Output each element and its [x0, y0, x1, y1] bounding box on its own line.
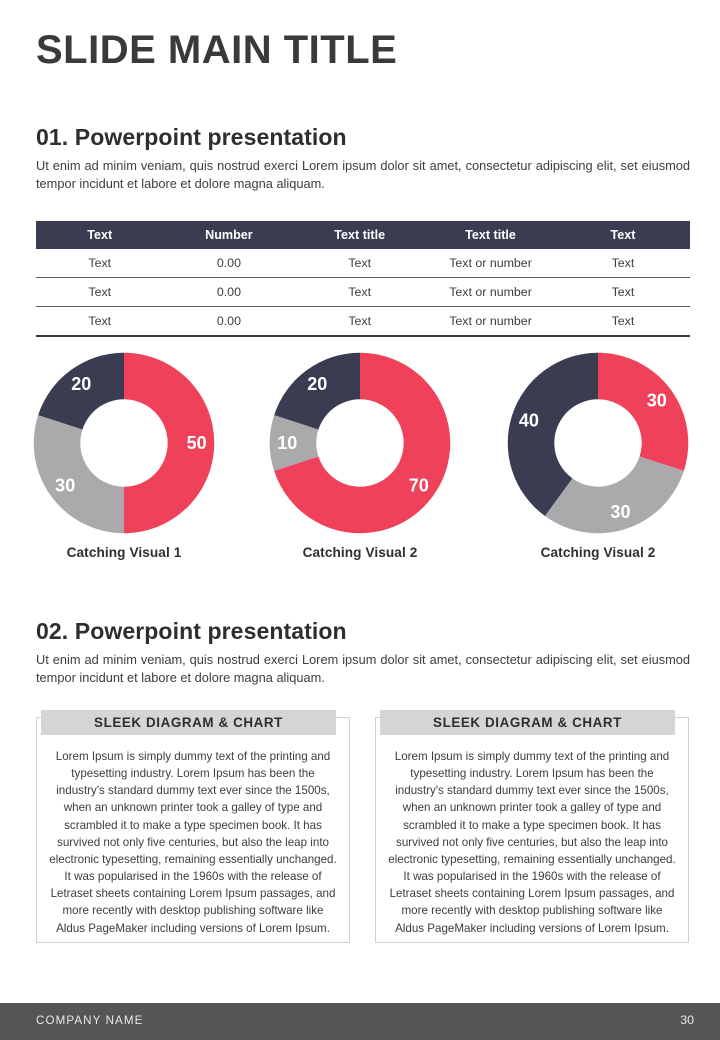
- donut-segment: [34, 415, 124, 533]
- table-header-cell: Text: [36, 221, 164, 249]
- table-cell: Text: [294, 278, 425, 307]
- donut-segment-label: 20: [71, 374, 91, 394]
- donut-chart-svg: 701020: [265, 348, 455, 538]
- section-heading-02: 02. Powerpoint presentation: [36, 618, 347, 645]
- table-cell: Text: [556, 278, 690, 307]
- donut-segment-label: 30: [647, 390, 667, 410]
- footer-page-number: 30: [680, 1013, 694, 1027]
- table-head: Text Number Text title Text title Text: [36, 221, 690, 249]
- donut-caption: Catching Visual 2: [250, 545, 470, 560]
- table-header-cell: Text title: [294, 221, 425, 249]
- donut-chart-2: 303040 Catching Visual 2: [488, 348, 708, 560]
- footer-bar: COMPANY NAME 30: [0, 1003, 720, 1040]
- diagram-card-body-1: Lorem Ipsum is simply dummy text of the …: [387, 748, 677, 937]
- table-cell: Text: [294, 249, 425, 278]
- donut-chart-svg: 303040: [503, 348, 693, 538]
- section-body-01: Ut enim ad minim veniam, quis nostrud ex…: [36, 157, 690, 193]
- donut-segment: [598, 353, 688, 471]
- table-cell: Text: [36, 249, 164, 278]
- table-cell: Text: [36, 278, 164, 307]
- table-row: Text 0.00 Text Text or number Text: [36, 307, 690, 337]
- donut-chart-0: 503020 Catching Visual 1: [14, 348, 234, 560]
- table-cell: Text: [294, 307, 425, 337]
- footer-company-name: COMPANY NAME: [36, 1014, 143, 1027]
- table-header-cell: Number: [164, 221, 295, 249]
- donut-segment-label: 40: [519, 411, 539, 431]
- table-cell: 0.00: [164, 249, 295, 278]
- section-heading-01: 01. Powerpoint presentation: [36, 124, 347, 151]
- table-cell: Text: [556, 307, 690, 337]
- diagram-card-body-0: Lorem Ipsum is simply dummy text of the …: [48, 748, 338, 937]
- diagram-card-header-1: SLEEK DIAGRAM & CHART: [380, 710, 675, 735]
- donut-caption: Catching Visual 2: [488, 545, 708, 560]
- donut-chart-row: 503020 Catching Visual 1 701020 Catching…: [0, 348, 720, 573]
- donut-chart-1: 701020 Catching Visual 2: [250, 348, 470, 560]
- donut-segment-label: 30: [610, 502, 630, 522]
- table-cell: 0.00: [164, 278, 295, 307]
- slide: SLIDE MAIN TITLE 01. Powerpoint presenta…: [0, 0, 720, 1040]
- table-cell: Text: [556, 249, 690, 278]
- page-title: SLIDE MAIN TITLE: [36, 28, 397, 72]
- donut-segment-label: 20: [307, 374, 327, 394]
- table-cell: Text or number: [425, 249, 556, 278]
- table-cell: Text or number: [425, 307, 556, 337]
- donut-segment-label: 10: [277, 433, 297, 453]
- data-table: Text Number Text title Text title Text T…: [36, 221, 690, 337]
- donut-chart-svg: 503020: [29, 348, 219, 538]
- diagram-card-header-0: SLEEK DIAGRAM & CHART: [41, 710, 336, 735]
- donut-caption: Catching Visual 1: [14, 545, 234, 560]
- table-header-row: Text Number Text title Text title Text: [36, 221, 690, 249]
- table-header-cell: Text title: [425, 221, 556, 249]
- table-row: Text 0.00 Text Text or number Text: [36, 278, 690, 307]
- table-cell: Text: [36, 307, 164, 337]
- donut-segment-label: 70: [409, 476, 429, 496]
- table-row: Text 0.00 Text Text or number Text: [36, 249, 690, 278]
- donut-segment-label: 30: [55, 476, 75, 496]
- table-cell: 0.00: [164, 307, 295, 337]
- table-header-cell: Text: [556, 221, 690, 249]
- table-body: Text 0.00 Text Text or number Text Text …: [36, 249, 690, 336]
- donut-segment-label: 50: [187, 433, 207, 453]
- table-cell: Text or number: [425, 278, 556, 307]
- section-body-02: Ut enim ad minim veniam, quis nostrud ex…: [36, 651, 690, 687]
